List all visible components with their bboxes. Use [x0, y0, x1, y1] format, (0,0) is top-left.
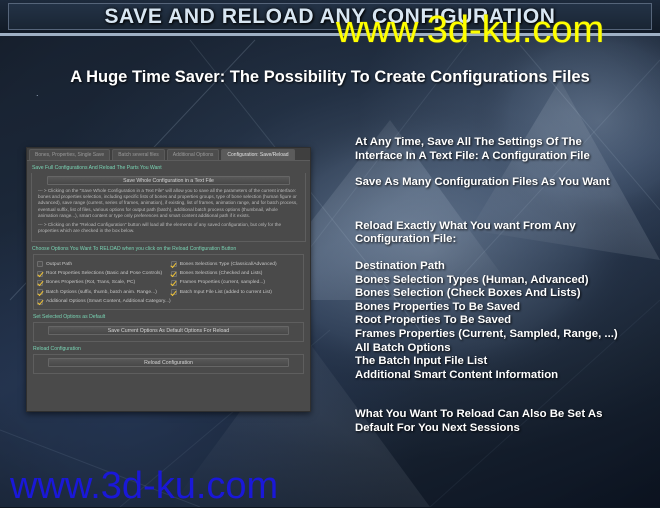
checkbox-row[interactable]: Batch Input File List (added to current … — [171, 288, 300, 297]
reload-configuration-box: Reload Configuration — [33, 354, 304, 374]
feature-line: Additional Smart Content Information — [355, 369, 655, 383]
save-description-1: --- > Clicking on the "Save Whole Config… — [38, 188, 299, 219]
save-description-2: --- > Clicking on the "Reload Configurat… — [38, 222, 299, 234]
checkbox-label: Batch Input File List (added to current … — [180, 290, 272, 295]
feature-line: Interface In A Text File: A Configuratio… — [355, 150, 655, 164]
subtitle-marker: . — [36, 88, 39, 98]
save-whole-configuration-button[interactable]: Save Whole Configuration in a Text File — [47, 176, 291, 185]
checkbox-row[interactable]: Frames Properties (current, sampled...) — [171, 278, 300, 287]
save-group-box: Save Whole Configuration in a Text File … — [31, 173, 306, 242]
checkbox-additional-options-icon[interactable] — [37, 299, 43, 305]
reload-options-checkbox-grid: Output Path Root Properties Selections (… — [33, 254, 304, 310]
feature-block-5: What You Want To Reload Can Also Be Set … — [355, 408, 655, 435]
checkbox-batch-input-file-list-icon[interactable] — [171, 289, 177, 295]
checkbox-label: Bones Selections (Checked and Lists) — [180, 271, 263, 276]
checkbox-label: Additional Options (Smart Content, Addit… — [46, 299, 171, 304]
watermark-top: www.3d-ku.com — [336, 9, 604, 52]
checkbox-bones-selections-icon[interactable] — [171, 271, 177, 277]
checkbox-label: Batch Options (suffix, thumb, batch anim… — [46, 290, 157, 295]
reload-configuration-label: Reload Configuration — [33, 346, 304, 352]
feature-line: Reload Exactly What You want From Any — [355, 220, 655, 234]
tab-configuration-save-reload[interactable]: Configuration: Save/Reload — [221, 149, 294, 160]
checkbox-row[interactable]: Batch Options (suffix, thumb, batch anim… — [37, 288, 171, 297]
default-options-section: Set Selected Options as Default Save Cur… — [33, 314, 304, 342]
checkbox-label: Output Path — [46, 262, 72, 267]
checkbox-row[interactable]: Bones Selections (Checked and Lists) — [171, 269, 300, 278]
tab-bones-properties-single-save[interactable]: Bones, Properties, Single Save — [29, 149, 110, 160]
spacer — [355, 163, 655, 176]
feature-line: Configuration File: — [355, 233, 655, 247]
feature-block-1: At Any Time, Save All The Settings Of Th… — [355, 136, 655, 163]
feature-line: What You Want To Reload Can Also Be Set … — [355, 408, 655, 422]
feature-line: Frames Properties (Current, Sampled, Ran… — [355, 328, 655, 342]
checkbox-row[interactable]: Bones Properties (Rot, Trans, Scale, PC) — [37, 278, 171, 287]
feature-line: Bones Selection (Check Boxes And Lists) — [355, 287, 655, 301]
checkbox-row[interactable]: Additional Options (Smart Content, Addit… — [37, 297, 171, 306]
panel-body: Save Full Configurations And Reload The … — [27, 161, 310, 374]
default-options-box: Save Current Options As Default Options … — [33, 322, 304, 342]
checkbox-bones-selections-type-icon[interactable] — [171, 261, 177, 267]
feature-line: Destination Path — [355, 260, 655, 274]
checkbox-label: Bones Selections Type (Classical/Advance… — [180, 262, 277, 267]
application-panel[interactable]: Bones, Properties, Single Save Batch sev… — [26, 147, 311, 412]
checkbox-row[interactable]: Output Path — [37, 259, 171, 268]
feature-block-2: Save As Many Configuration Files As You … — [355, 176, 655, 190]
checkbox-label: Bones Properties (Rot, Trans, Scale, PC) — [46, 280, 135, 285]
reload-configuration-section: Reload Configuration Reload Configuratio… — [33, 346, 304, 374]
checkbox-label: Root Properties Selections (Basic and Po… — [46, 271, 162, 276]
checkbox-row[interactable]: Root Properties Selections (Basic and Po… — [37, 269, 171, 278]
checkbox-label: Frames Properties (current, sampled...) — [180, 280, 265, 285]
feature-line: Save As Many Configuration Files As You … — [355, 176, 655, 190]
checkbox-row[interactable]: Bones Selections Type (Classical/Advance… — [171, 259, 300, 268]
subtitle: A Huge Time Saver: The Possibility To Cr… — [0, 68, 660, 87]
save-group-label: Save Full Configurations And Reload The … — [32, 165, 306, 171]
feature-line: Bones Selection Types (Human, Advanced) — [355, 274, 655, 288]
save-default-options-button[interactable]: Save Current Options As Default Options … — [48, 326, 290, 335]
feature-text-column: At Any Time, Save All The Settings Of Th… — [355, 136, 655, 436]
feature-line: Default For You Next Sessions — [355, 422, 655, 436]
checkbox-column-right: Bones Selections Type (Classical/Advance… — [171, 259, 300, 306]
checkbox-bones-properties-icon[interactable] — [37, 280, 43, 286]
feature-line: The Batch Input File List — [355, 355, 655, 369]
reload-configuration-button[interactable]: Reload Configuration — [48, 358, 290, 367]
spacer — [355, 247, 655, 260]
spacer — [355, 190, 655, 220]
feature-block-4: Destination Path Bones Selection Types (… — [355, 260, 655, 382]
checkbox-frames-properties-icon[interactable] — [171, 280, 177, 286]
feature-line: At Any Time, Save All The Settings Of Th… — [355, 136, 655, 150]
feature-line: Root Properties To Be Saved — [355, 314, 655, 328]
spacer — [355, 382, 655, 408]
panel-tab-bar[interactable]: Bones, Properties, Single Save Batch sev… — [27, 148, 310, 161]
feature-block-3: Reload Exactly What You want From Any Co… — [355, 220, 655, 247]
checkbox-root-properties-icon[interactable] — [37, 271, 43, 277]
checkbox-output-path-icon[interactable] — [37, 261, 43, 267]
tab-batch-several-files[interactable]: Batch several files — [112, 149, 165, 160]
checkbox-column-left: Output Path Root Properties Selections (… — [37, 259, 171, 306]
feature-line: Bones Properties To Be Saved — [355, 301, 655, 315]
tab-additional-options[interactable]: Additional Options — [167, 149, 220, 160]
default-options-label: Set Selected Options as Default — [33, 314, 304, 320]
feature-line: All Batch Options — [355, 342, 655, 356]
checkbox-batch-options-icon[interactable] — [37, 289, 43, 295]
watermark-bottom: www.3d-ku.com — [10, 465, 278, 508]
reload-options-label: Choose Options You Want To RELOAD when y… — [32, 246, 306, 252]
